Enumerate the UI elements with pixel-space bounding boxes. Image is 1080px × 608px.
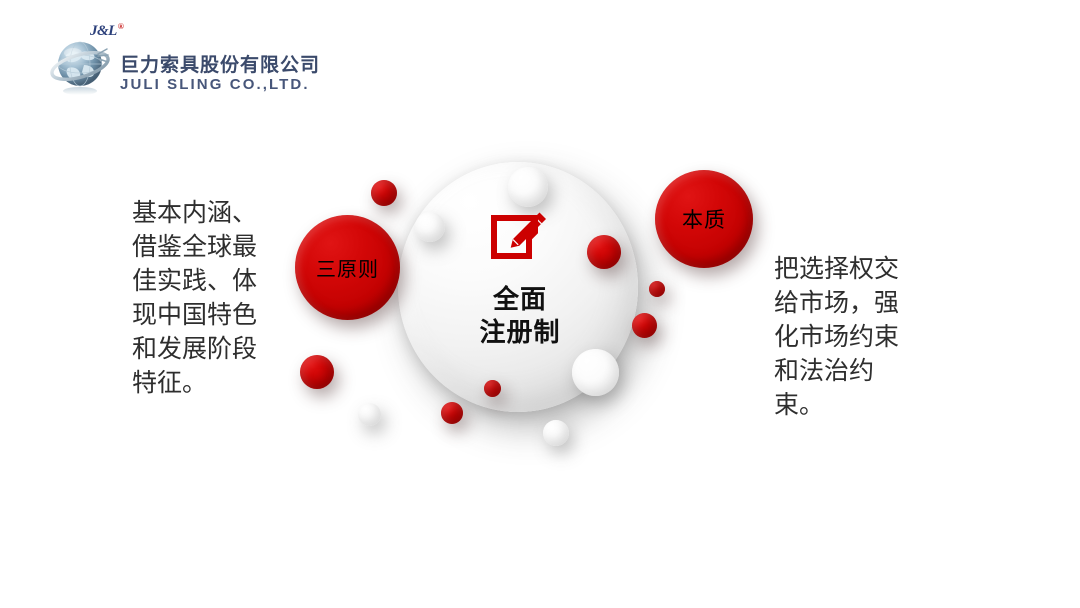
- node-essence-label: 本质: [655, 170, 753, 268]
- register-edit-icon: [489, 208, 551, 270]
- left-description-text: 基本内涵、借鉴全球最佳实践、体现中国特色和发展阶段特征。: [132, 196, 268, 400]
- node-principles-label: 三原则: [295, 215, 400, 320]
- center-title-line2: 注册制: [440, 317, 600, 350]
- decorative-bubble-red: [484, 380, 501, 397]
- decorative-bubble-red: [371, 180, 397, 206]
- decorative-bubble-red: [649, 281, 665, 297]
- right-description-text: 把选择权交给市场，强化市场约束和法治约束。: [774, 252, 906, 422]
- decorative-bubble-red: [300, 355, 334, 389]
- node-principles[interactable]: 三原则: [295, 215, 400, 320]
- decorative-bubble-red: [441, 402, 463, 424]
- decorative-bubble-white: [508, 167, 548, 207]
- node-essence[interactable]: 本质: [655, 170, 753, 268]
- center-title: 全面 注册制: [440, 284, 600, 350]
- decorative-bubble-white: [572, 349, 619, 396]
- decorative-bubble-white: [543, 420, 569, 446]
- center-title-line1: 全面: [440, 284, 600, 317]
- center-content: 全面 注册制: [440, 208, 600, 350]
- decorative-bubble-red: [632, 313, 657, 338]
- diagram-stage: 三原则 本质 全面 注册制 基本内涵、借鉴全球最佳实践、体现中国特色和发展阶段特…: [0, 0, 1080, 608]
- decorative-bubble-white: [358, 403, 381, 426]
